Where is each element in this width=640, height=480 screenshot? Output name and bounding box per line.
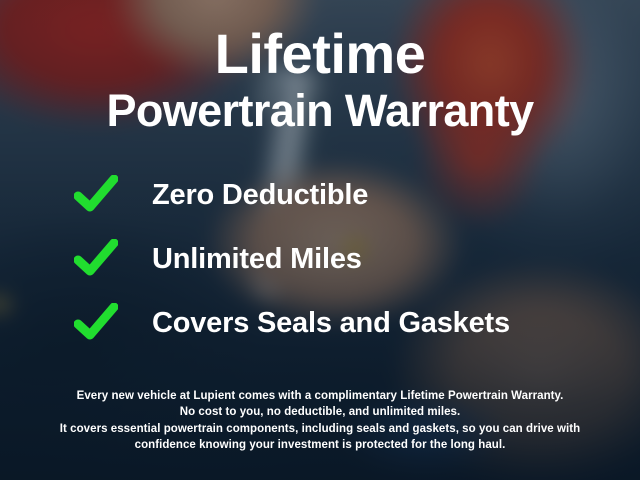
feature-label-covers-seals-and-gaskets: Covers Seals and Gaskets bbox=[152, 307, 510, 340]
description-line-4: confidence knowing your investment is pr… bbox=[26, 437, 614, 453]
feature-item-zero-deductible: Zero Deductible bbox=[74, 163, 640, 227]
feature-item-covers-seals-and-gaskets: Covers Seals and Gaskets bbox=[74, 291, 640, 355]
headline-line-1: Lifetime bbox=[0, 26, 640, 82]
check-icon bbox=[74, 239, 118, 279]
description-line-1: Every new vehicle at Lupient comes with … bbox=[26, 388, 614, 404]
lifetime-powertrain-warranty-banner: Lifetime Powertrain Warranty Zero Deduct… bbox=[0, 0, 640, 480]
feature-list: Zero Deductible Unlimited Miles Covers S… bbox=[0, 163, 640, 355]
check-icon bbox=[74, 303, 118, 343]
check-icon bbox=[74, 175, 118, 215]
feature-item-unlimited-miles: Unlimited Miles bbox=[74, 227, 640, 291]
feature-label-unlimited-miles: Unlimited Miles bbox=[152, 243, 362, 276]
headline-line-2: Powertrain Warranty bbox=[0, 88, 640, 133]
headline: Lifetime Powertrain Warranty bbox=[0, 0, 640, 133]
feature-label-zero-deductible: Zero Deductible bbox=[152, 179, 368, 212]
description-line-2: No cost to you, no deductible, and unlim… bbox=[26, 404, 614, 420]
description-paragraph: Every new vehicle at Lupient comes with … bbox=[0, 388, 640, 453]
banner-content: Lifetime Powertrain Warranty Zero Deduct… bbox=[0, 0, 640, 480]
description-line-3: It covers essential powertrain component… bbox=[26, 421, 614, 437]
